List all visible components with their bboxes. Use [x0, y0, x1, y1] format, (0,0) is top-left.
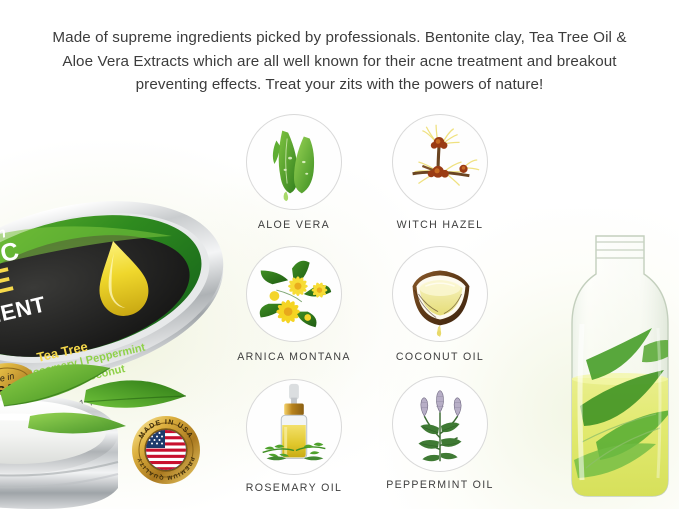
ingredient-grid: ALOE VERA — [228, 114, 518, 502]
coconut-oil-icon — [393, 247, 487, 341]
arnica-flower-2 — [288, 276, 308, 296]
ingredient-circle — [392, 246, 488, 342]
ingredient-circle — [392, 376, 488, 472]
ingredient-label: WITCH HAZEL — [374, 219, 506, 231]
ingredient-circle — [392, 114, 488, 210]
witch-hazel-icon — [393, 115, 487, 209]
ingredient-circle — [246, 246, 342, 342]
aloe-vera-icon — [247, 115, 341, 209]
us-flag-icon — [146, 430, 186, 470]
rosemary-oil-icon — [247, 380, 341, 474]
ingredient-item-witch-hazel[interactable]: WITCH HAZEL — [374, 114, 506, 231]
ingredient-item-arnica-montana[interactable]: ARNICA MONTANA — [228, 246, 360, 363]
ingredient-circle — [246, 114, 342, 210]
oil-bottle — [556, 228, 679, 509]
ingredient-item-coconut-oil[interactable]: COCONUT OIL — [374, 246, 506, 363]
ingredient-label: ALOE VERA — [228, 219, 360, 231]
peppermint-oil-icon — [393, 377, 487, 471]
product-ingredients-graphic: Made of supreme ingredients picked by pr… — [0, 0, 679, 509]
ingredient-label: PEPPERMINT OIL — [374, 479, 506, 491]
ingredient-label: ROSEMARY OIL — [228, 482, 360, 494]
arnica-montana-icon — [247, 247, 341, 341]
ingredient-item-aloe-vera[interactable]: ALOE VERA — [228, 114, 360, 231]
ingredient-circle — [246, 379, 342, 475]
made-in-usa-seal: MADE IN USA PREMIUM QUALITY — [130, 414, 202, 486]
ingredient-item-peppermint-oil[interactable]: PEPPERMINT OIL — [374, 376, 506, 491]
arnica-flower-1 — [276, 300, 300, 324]
headline-copy: Made of supreme ingredients picked by pr… — [26, 26, 653, 97]
ingredient-label: ARNICA MONTANA — [228, 351, 360, 363]
ingredient-label: COCONUT OIL — [374, 351, 506, 363]
decorative-leaves — [0, 340, 240, 460]
ingredient-item-rosemary-oil[interactable]: ROSEMARY OIL — [228, 379, 360, 494]
